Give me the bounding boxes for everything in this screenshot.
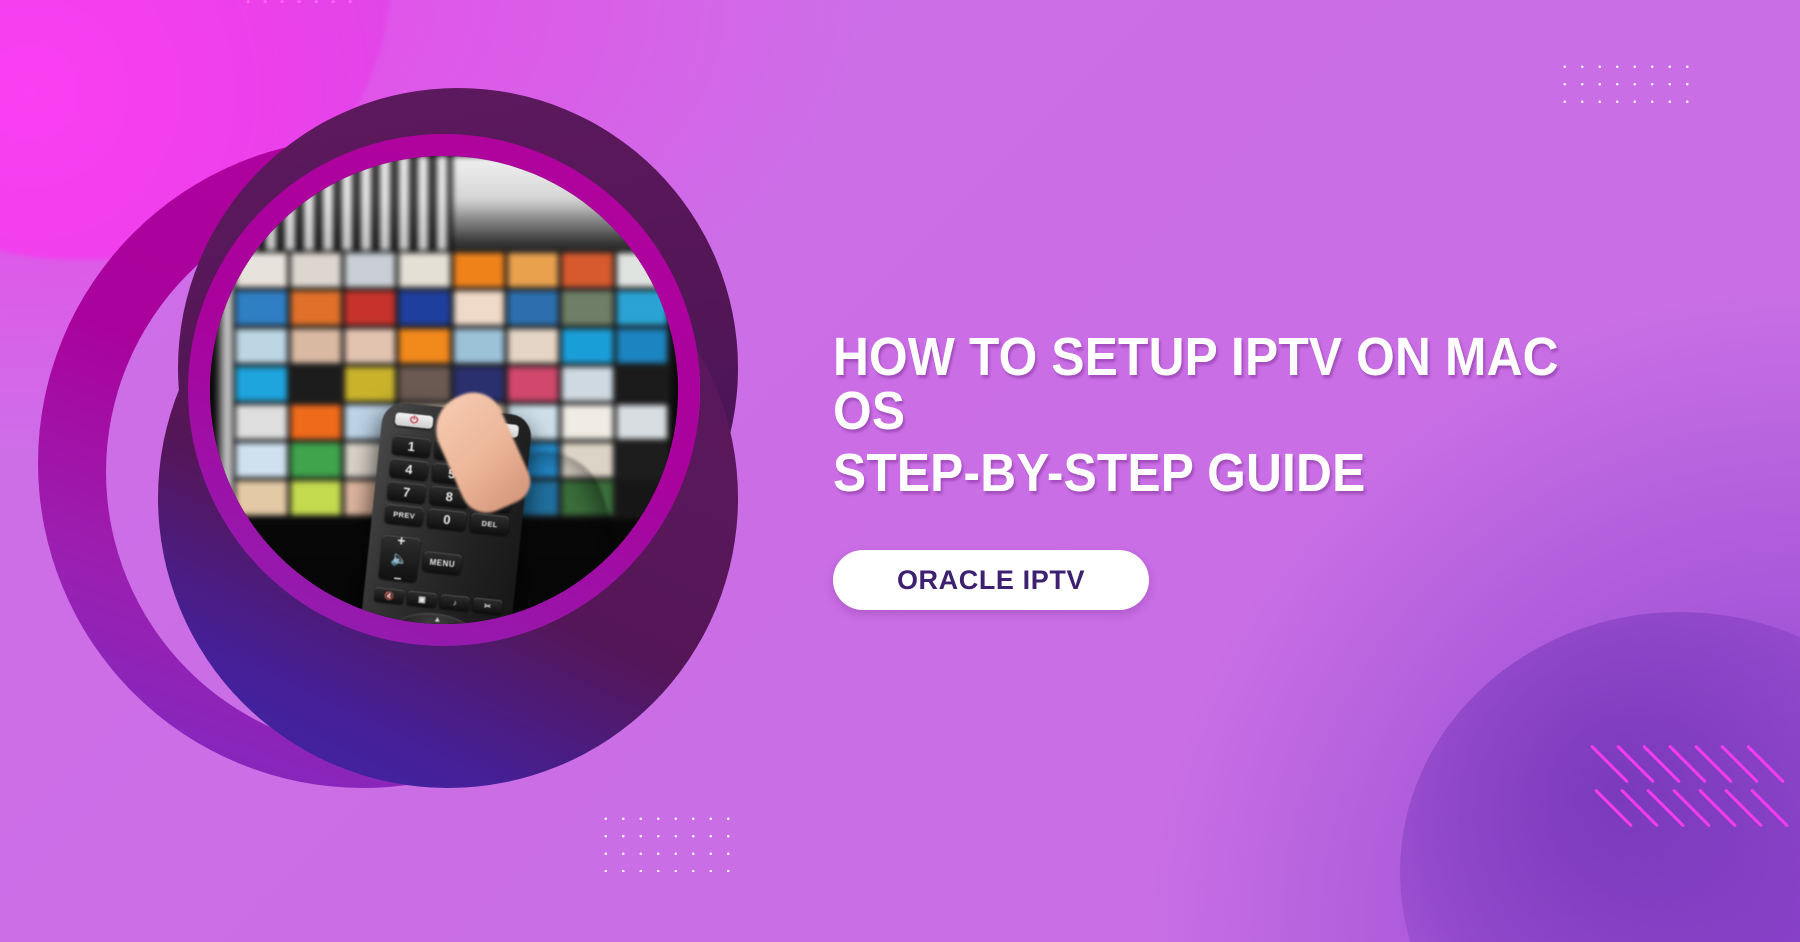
video-wall-tile bbox=[399, 291, 449, 325]
stripe bbox=[314, 0, 348, 34]
page-title: HOW TO SETUP IPTV ON MAC OS STEP-BY-STEP… bbox=[833, 330, 1643, 500]
video-wall-tile bbox=[291, 443, 341, 477]
video-wall-tile bbox=[617, 291, 667, 325]
diagonal-stripes-top-left bbox=[262, 0, 392, 48]
video-wall-tile bbox=[399, 329, 449, 363]
video-wall-tile bbox=[562, 291, 612, 325]
menu-button: MENU bbox=[422, 551, 462, 575]
arrow-up-icon: ▲ bbox=[433, 614, 442, 624]
video-wall-tile bbox=[399, 367, 449, 401]
key-0: 0 bbox=[427, 508, 467, 531]
video-wall-tile bbox=[236, 443, 286, 477]
video-wall-tile bbox=[617, 253, 667, 287]
video-wall-tile bbox=[617, 329, 667, 363]
banner-canvas: ⏻ ⏻ 1 2 3 4 5 6 7 8 9 PREV 0 DEL bbox=[0, 0, 1800, 942]
mute-icon: 🔇 bbox=[374, 587, 404, 604]
video-wall-tile bbox=[345, 367, 395, 401]
video-wall-tile bbox=[291, 367, 341, 401]
headline-line-2: STEP-BY-STEP GUIDE bbox=[833, 446, 1643, 500]
video-wall-tile bbox=[236, 405, 286, 439]
video-wall-tile bbox=[236, 253, 286, 287]
key-7: 7 bbox=[387, 481, 427, 504]
power-button-left: ⏻ bbox=[395, 412, 434, 429]
stripe bbox=[263, 0, 297, 34]
volume-up-icon: + bbox=[397, 532, 407, 549]
wall-slats bbox=[238, 156, 453, 250]
headline-line-1: HOW TO SETUP IPTV ON MAC OS bbox=[833, 327, 1559, 441]
oracle-iptv-button[interactable]: ORACLE IPTV bbox=[833, 550, 1149, 610]
video-wall-tile bbox=[345, 253, 395, 287]
video-wall-tile bbox=[454, 329, 504, 363]
photo-circle: ⏻ ⏻ 1 2 3 4 5 6 7 8 9 PREV 0 DEL bbox=[210, 156, 678, 624]
video-wall-tile bbox=[291, 253, 341, 287]
video-wall-tile bbox=[617, 481, 667, 515]
video-wall-tile bbox=[236, 481, 286, 515]
remote-media-row: 🔇 ▣ ♪ ✂ bbox=[374, 587, 503, 614]
video-wall-tile bbox=[617, 405, 667, 439]
video-wall-tile bbox=[236, 367, 286, 401]
navigation-dpad: ▲ ◀ OK ▶ ▼ bbox=[385, 609, 482, 624]
video-wall-tile bbox=[617, 367, 667, 401]
video-wall-tile bbox=[508, 329, 558, 363]
video-wall-tile bbox=[617, 443, 667, 477]
prev-button: PREV bbox=[384, 504, 424, 527]
function-spacer bbox=[467, 543, 507, 566]
banner-content: HOW TO SETUP IPTV ON MAC OS STEP-BY-STEP… bbox=[833, 330, 1713, 610]
video-wall-tile bbox=[291, 481, 341, 515]
key-4: 4 bbox=[389, 458, 429, 481]
video-wall-tile bbox=[562, 367, 612, 401]
video-wall-tile bbox=[291, 405, 341, 439]
dot-grid-top-right bbox=[1556, 58, 1696, 118]
dot-grid-bottom bbox=[597, 810, 737, 872]
video-wall-tile bbox=[508, 253, 558, 287]
del-button: DEL bbox=[470, 513, 510, 536]
video-wall-tile bbox=[454, 291, 504, 325]
video-wall-tile bbox=[236, 291, 286, 325]
remote-function-row: + 🔈 – MENU bbox=[378, 535, 506, 592]
video-wall-tile bbox=[508, 367, 558, 401]
stripe bbox=[280, 0, 314, 34]
circular-hero-graphic: ⏻ ⏻ 1 2 3 4 5 6 7 8 9 PREV 0 DEL bbox=[38, 88, 738, 788]
video-wall-tile bbox=[236, 329, 286, 363]
speaker-icon: 🔈 bbox=[390, 549, 409, 568]
volume-down-icon: – bbox=[393, 568, 402, 585]
stripe bbox=[348, 0, 382, 34]
diagonal-stripes-bottom-right bbox=[1608, 738, 1798, 834]
video-wall-tile bbox=[562, 405, 612, 439]
scissors-icon: ✂ bbox=[472, 597, 502, 614]
video-wall-tile bbox=[345, 329, 395, 363]
stripe bbox=[297, 0, 331, 34]
video-wall-tile bbox=[454, 253, 504, 287]
screen-icon: ▣ bbox=[407, 590, 437, 607]
video-wall-tile bbox=[291, 291, 341, 325]
video-wall-tile bbox=[562, 329, 612, 363]
volume-rocker: + 🔈 – bbox=[378, 535, 420, 583]
stripe bbox=[331, 0, 365, 34]
video-wall-tile bbox=[508, 291, 558, 325]
video-wall-tile bbox=[399, 253, 449, 287]
video-wall-tile bbox=[291, 329, 341, 363]
video-wall-tile bbox=[345, 291, 395, 325]
key-1: 1 bbox=[391, 435, 431, 458]
video-wall-tile bbox=[562, 253, 612, 287]
music-icon: ♪ bbox=[440, 594, 470, 611]
